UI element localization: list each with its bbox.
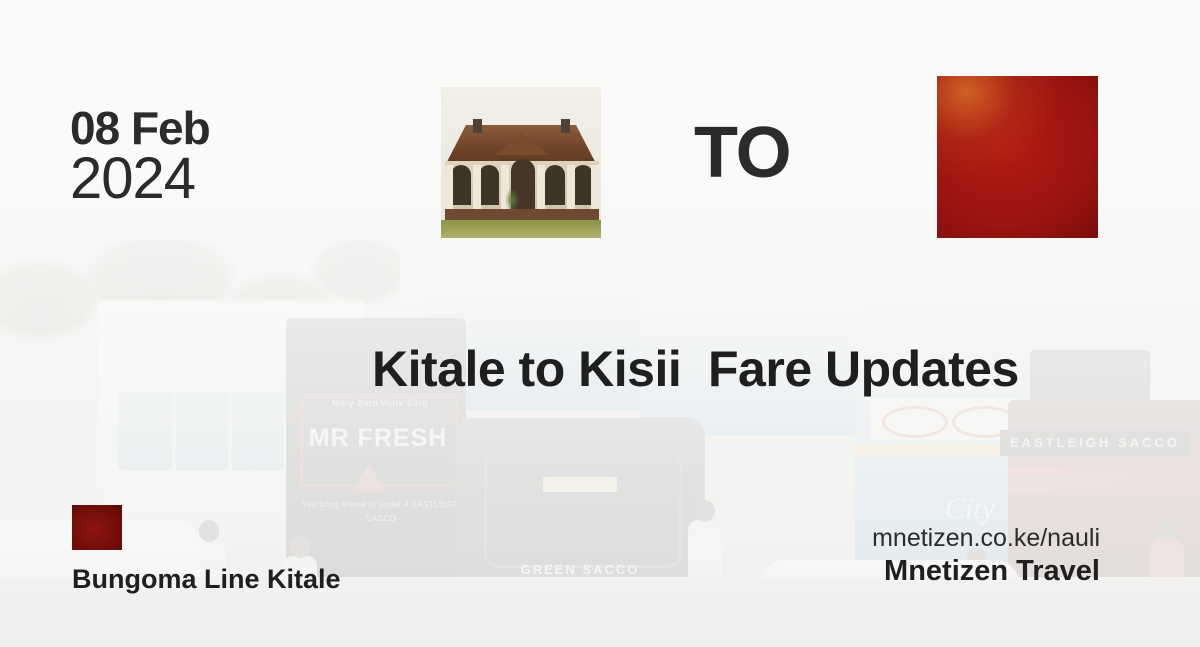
operator-name: Bungoma Line Kitale <box>72 564 341 595</box>
operator-brand: Bungoma Line Kitale <box>72 505 341 595</box>
publisher-name: Mnetizen Travel <box>872 555 1100 588</box>
destination-photo <box>937 76 1098 238</box>
publication-date: 08 Feb 2024 <box>70 106 210 208</box>
origin-photo-chimney <box>473 119 482 133</box>
poster-content: 08 Feb 2024 TO Kitale <box>0 0 1200 647</box>
origin-photo-chimney <box>561 119 570 133</box>
operator-logo-icon <box>72 505 122 550</box>
origin-photo-grass <box>441 220 601 238</box>
origin-photo <box>441 87 601 238</box>
route-connector-label: TO <box>694 112 791 194</box>
fare-update-poster: Mary Bard Work Bard MR FRESH You bring d… <box>0 0 1200 647</box>
publisher-url: mnetizen.co.ke/nauli <box>872 524 1100 553</box>
page-title: Kitale to Kisii Fare Updates <box>372 340 1019 398</box>
date-day-month: 08 Feb <box>70 106 210 150</box>
publisher-brand: mnetizen.co.ke/nauli Mnetizen Travel <box>872 524 1100 588</box>
date-year: 2024 <box>70 150 210 208</box>
